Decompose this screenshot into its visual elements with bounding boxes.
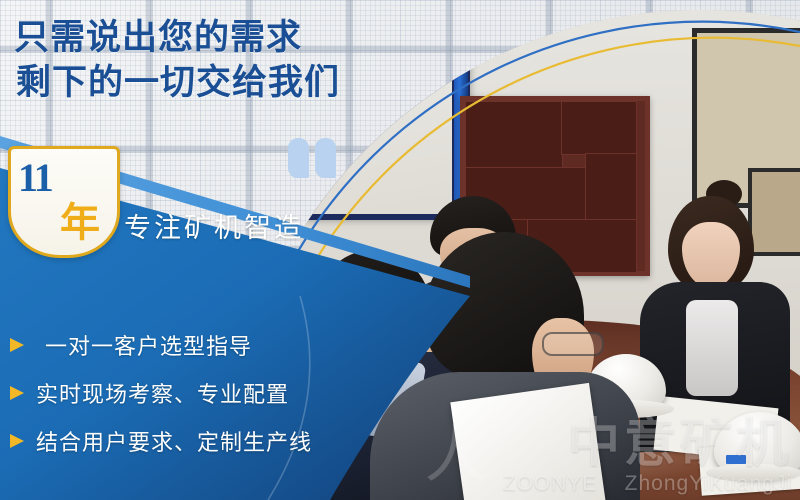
headline: 只需说出您的需求 剩下的一切交给我们	[14, 16, 340, 106]
list-item: 实时现场考察、专业配置	[10, 378, 310, 408]
list-item: 结合用户要求、定制生产线	[10, 426, 310, 456]
arrow-right-icon	[10, 386, 28, 400]
badge-unit: 年	[60, 190, 100, 248]
list-item-label: 实时现场考察、专业配置	[36, 377, 289, 409]
list-item-label: 一对一客户选型指导	[36, 329, 252, 361]
arrow-right-icon	[10, 434, 28, 448]
list-item: 一对一客户选型指导	[10, 330, 310, 360]
badge-number: 11	[18, 154, 52, 201]
promo-banner: 只需说出您的需求 剩下的一切交给我们 11 年 专注矿机智造 一对一客户选型指导…	[0, 0, 800, 500]
headline-line-1: 只需说出您的需求	[14, 16, 340, 61]
feature-list: 一对一客户选型指导 实时现场考察、专业配置 结合用户要求、定制生产线	[10, 330, 310, 474]
list-item-label: 结合用户要求、定制生产线	[36, 425, 312, 457]
years-badge: 11 年	[8, 146, 120, 258]
arrow-right-icon	[10, 338, 28, 352]
subtitle: 专注矿机智造	[124, 206, 304, 245]
headline-line-2: 剩下的一切交给我们	[16, 61, 340, 106]
